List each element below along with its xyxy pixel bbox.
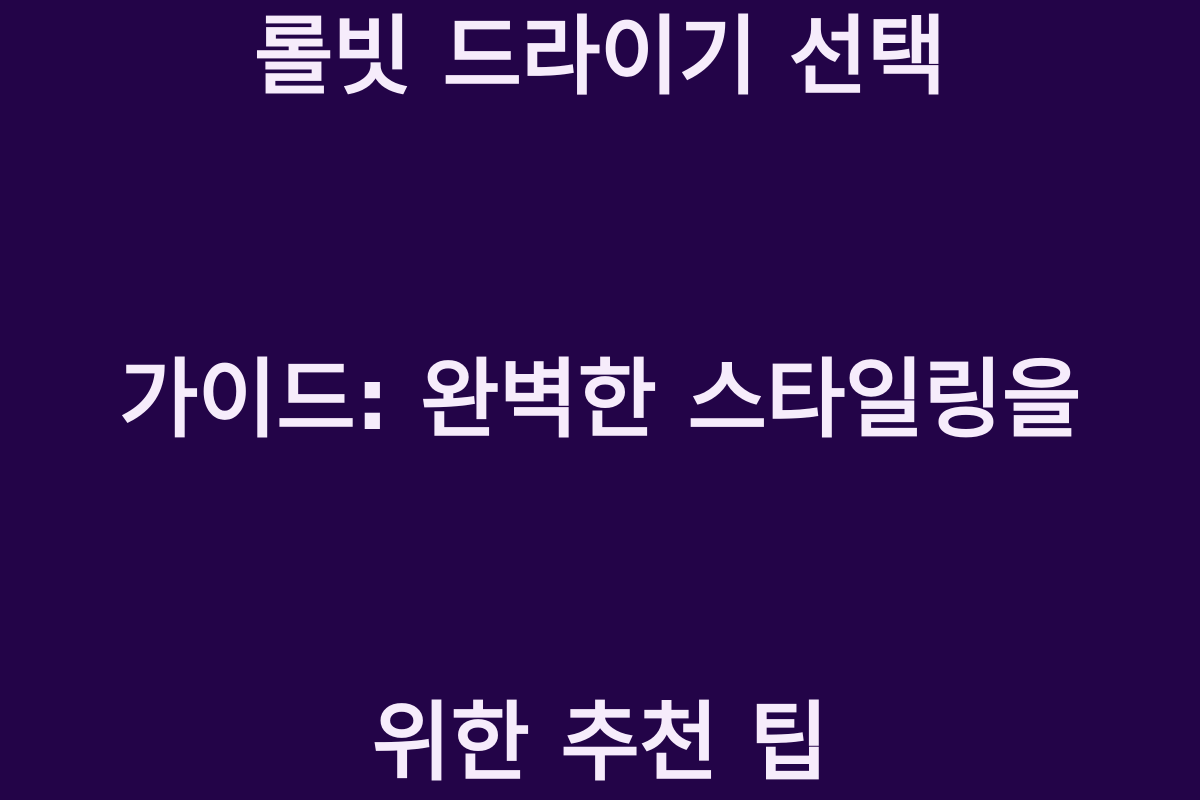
title-line-2: 가이드: 완벽한 스타일링을	[40, 343, 1160, 457]
title-block: 롤빗 드라이기 선택 가이드: 완벽한 스타일링을 위한 추천 팁	[30, 0, 1170, 800]
title-line-1: 롤빗 드라이기 선택	[40, 0, 1160, 114]
title-banner: 롤빗 드라이기 선택 가이드: 완벽한 스타일링을 위한 추천 팁	[0, 0, 1200, 800]
title-line-3: 위한 추천 팁	[40, 686, 1160, 800]
page-title: 롤빗 드라이기 선택 가이드: 완벽한 스타일링을 위한 추천 팁	[40, 0, 1160, 800]
